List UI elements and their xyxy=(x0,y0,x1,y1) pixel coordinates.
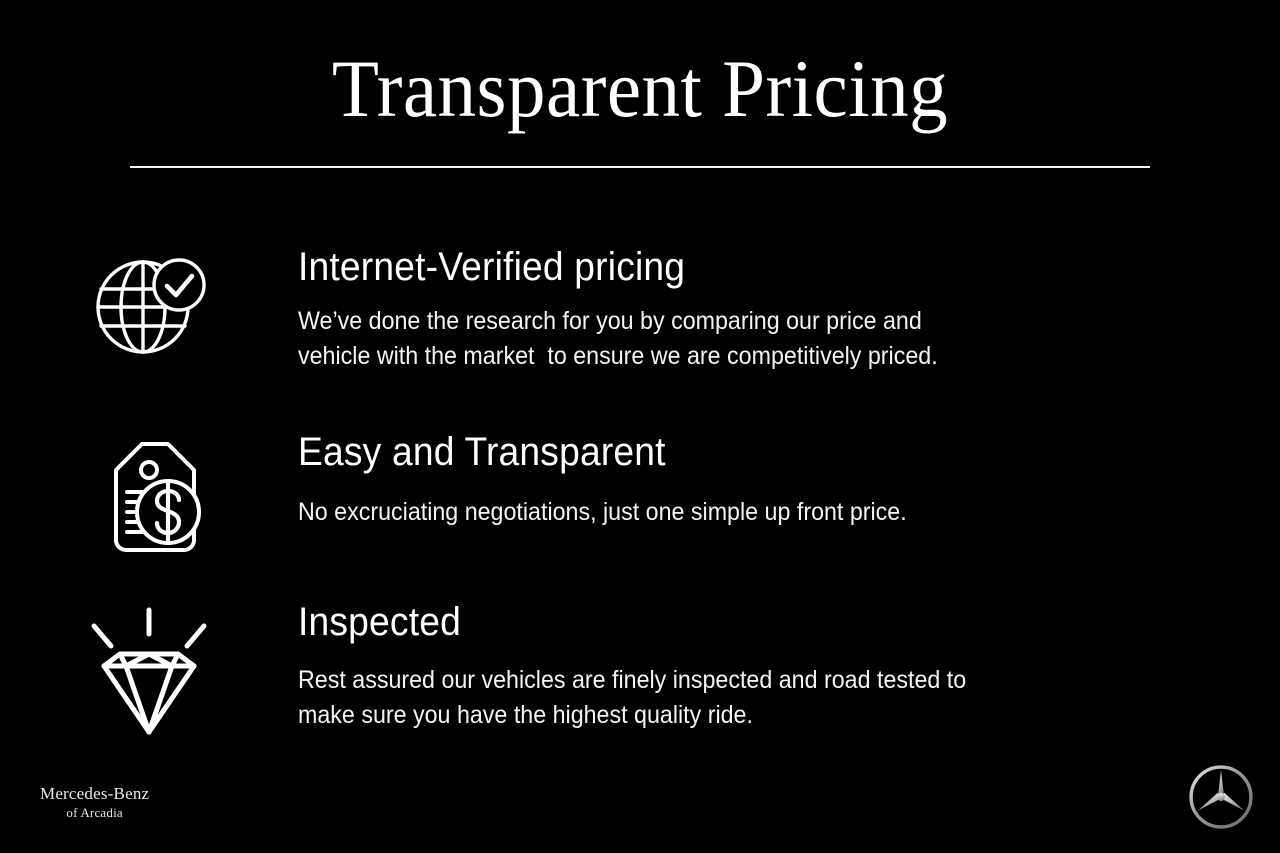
brand-name: Mercedes-Benz xyxy=(40,784,149,805)
feature-row-easy-and-transparent: Easy and Transparent No excruciating neg… xyxy=(0,430,1280,560)
feature-text-cell: Inspected Rest assured our vehicles are … xyxy=(298,600,1280,734)
dealer-brand: Mercedes-Benz of Arcadia xyxy=(40,784,149,821)
feature-heading: Internet-Verified pricing xyxy=(298,245,1062,290)
mercedes-star-logo xyxy=(1187,763,1255,831)
price-tag-dollar-icon xyxy=(94,434,204,560)
transparent-pricing-slide: Transparent Pricing xyxy=(0,0,1280,853)
feature-heading: Inspected xyxy=(298,600,1062,645)
title-divider xyxy=(130,166,1150,168)
feature-text-cell: Internet-Verified pricing We’ve done the… xyxy=(298,245,1280,375)
feature-row-internet-verified-pricing: Internet-Verified pricing We’ve done the… xyxy=(0,245,1280,375)
feature-heading: Easy and Transparent xyxy=(298,430,1062,475)
feature-body: We’ve done the research for you by compa… xyxy=(298,304,1062,375)
feature-icon-cell xyxy=(0,430,298,560)
feature-text-cell: Easy and Transparent No excruciating neg… xyxy=(298,430,1280,530)
feature-icon-cell xyxy=(0,600,298,746)
page-title: Transparent Pricing xyxy=(38,48,1241,130)
feature-row-inspected: Inspected Rest assured our vehicles are … xyxy=(0,600,1280,746)
feature-body: No excruciating negotiations, just one s… xyxy=(298,495,1062,531)
brand-sublabel: of Arcadia xyxy=(40,805,149,821)
feature-body: Rest assured our vehicles are finely ins… xyxy=(298,663,1062,734)
feature-icon-cell xyxy=(0,245,298,361)
globe-check-icon xyxy=(91,249,207,361)
diamond-sparkle-icon xyxy=(74,604,224,746)
